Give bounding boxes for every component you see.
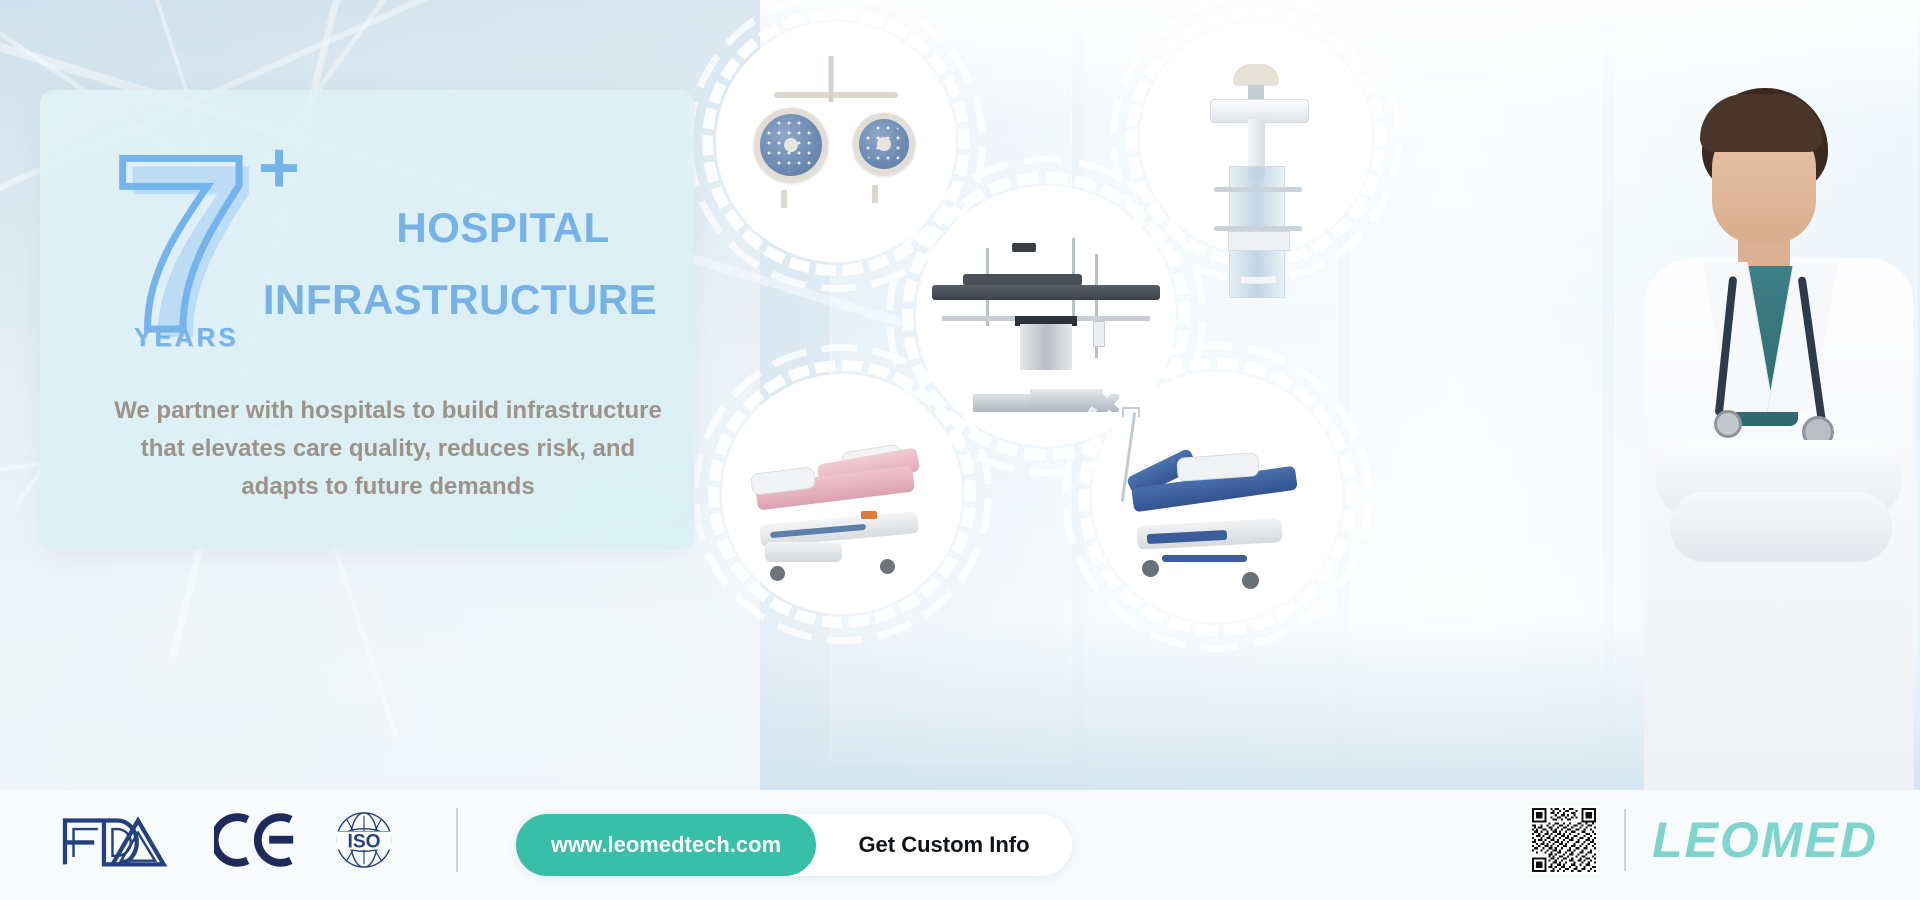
brand-group: LEOMED [1530,806,1878,874]
light-ceiling-arm [829,56,834,102]
ce-logo [214,812,298,868]
table-hand-controller [1093,321,1105,347]
table-lift-column [1020,324,1072,370]
table-mattress-pad [932,285,1161,300]
fda-logo [60,812,182,868]
light-support-bar [774,92,899,98]
product-circle-patient-transfer-stretcher[interactable] [1092,372,1342,622]
light-hub [877,137,891,151]
bed-backrest-mattress [817,447,920,488]
website-url-pill[interactable]: www.leomedtech.com [516,814,816,876]
bed-accent-stripe [770,523,866,537]
iv-pole [1121,412,1136,502]
headline-line-2: INFRASTRUCTURE [232,264,688,336]
qr-code[interactable] [1530,806,1598,874]
svg-text:ISO: ISO [348,831,381,852]
bed-caster-wheel [880,559,895,574]
product-circle-electric-hospital-bed[interactable] [722,374,962,614]
stretcher-caster-wheel [1242,572,1259,589]
table-accessory-post [1072,238,1075,326]
pendant-base-tray [1228,231,1290,251]
stretcher-mattress [1131,466,1298,513]
pendant-shelf [1214,187,1302,192]
light-stem [781,190,787,208]
table-accessory-post [986,248,989,326]
bed-side-rail [841,444,903,475]
bed-caster-wheel [770,566,785,581]
pendant-boom-arm [1210,99,1309,123]
stretcher-lower-bar [1162,555,1247,562]
light-hub [784,138,798,152]
bed-side-rail [750,466,817,496]
table-column-top [1015,316,1077,326]
table-side-rail [942,316,1150,321]
stretcher-frame-base [1136,518,1282,550]
hero-paragraph: We partner with hospitals to build infra… [108,392,668,506]
brand-logo-text: LEOMED [1652,811,1878,869]
electric-hospital-bed-image [722,374,962,614]
pendant-column [1248,119,1265,179]
pendant-console-body [1229,166,1285,298]
iso-logo: ISO [330,809,398,871]
bed-frame-base [760,511,920,547]
brand-divider [1624,809,1626,871]
pendant-shelf [1214,226,1302,231]
headline-line-1: HOSPITAL [396,204,609,251]
led-dot-array [863,123,905,165]
doctor-portrait [1630,80,1920,800]
pendant-neck [1248,85,1264,99]
get-custom-info-button[interactable]: Get Custom Info [816,814,1072,876]
light-stem [872,185,878,203]
bed-footboard [765,542,842,562]
hair-top [1700,94,1822,152]
page-title: HOSPITAL INFRASTRUCTURE [318,192,688,336]
stretcher-backrest-mattress [1126,448,1199,498]
light-head-secondary [853,113,915,175]
years-label: YEARS [134,322,239,353]
iv-pole-hook [1122,407,1140,417]
stretcher-side-rail [1176,452,1259,482]
stretcher-accent-panel [1147,530,1227,544]
led-dot-array [764,118,818,172]
stethoscope-earpiece [1714,410,1742,438]
crossed-arm-lower [1670,492,1892,562]
bed-mattress [755,465,915,510]
stretcher-caster-wheel [1142,560,1159,577]
table-accessory-post [1095,254,1098,358]
promo-banner: 7 7 + YEARS HOSPITAL INFRASTRUCTURE We p… [0,0,1920,900]
table-upper-pad [963,274,1083,286]
patient-transfer-stretcher-image [1092,372,1342,622]
years-plus-symbol: + [258,132,300,204]
light-head-primary [754,108,828,182]
cta-group[interactable]: www.leomedtech.com Get Custom Info [516,814,1072,876]
certification-logos: ISO [60,808,458,872]
bed-control-panel [861,511,877,519]
footer-divider [456,808,458,872]
table-head-clamp [1012,243,1036,252]
pendant-ceiling-dome [1233,64,1279,86]
